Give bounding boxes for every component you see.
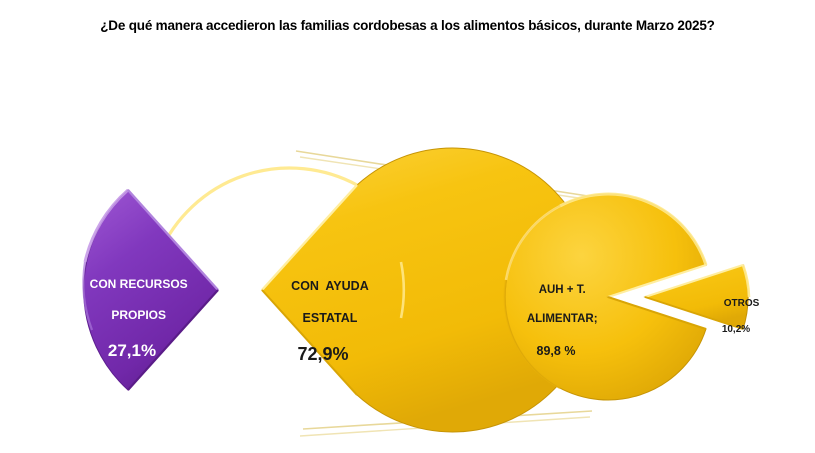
- pie-chart-graphic: [0, 0, 815, 453]
- slice-con-recursos-propios[interactable]: [83, 190, 218, 390]
- pie-of-pie-chart: ¿De qué manera accedieron las familias c…: [0, 0, 815, 453]
